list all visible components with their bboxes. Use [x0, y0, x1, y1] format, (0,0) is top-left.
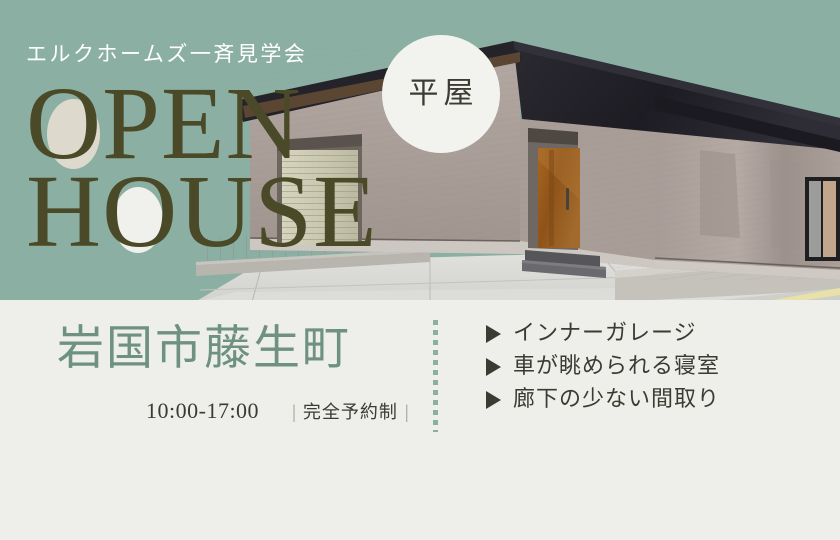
open-house-flyer: 平屋 エルクホームズ一斉見学会 OPEN HOUSE 岩国市藤生町 10:00-…: [0, 0, 840, 540]
list-item: 廊下の少ない間取り: [486, 388, 720, 412]
triangle-right-icon: [486, 391, 501, 409]
feature-label: 車が眺められる寝室: [513, 355, 720, 379]
headline-block: エルクホームズ一斉見学会 OPEN HOUSE: [0, 0, 420, 300]
location-title: 岩国市藤生町: [57, 325, 351, 372]
triangle-right-icon: [486, 358, 501, 376]
separator-right-bar: |: [398, 402, 416, 424]
event-time: 10:00-17:00: [146, 398, 259, 424]
reservation-note: 完全予約制: [303, 398, 398, 424]
headline-house: HOUSE: [26, 160, 378, 264]
event-kicker: エルクホームズ一斉見学会: [26, 38, 307, 68]
list-item: インナーガレージ: [486, 322, 720, 346]
feature-list: インナーガレージ 車が眺められる寝室 廊下の少ない間取り: [486, 322, 720, 413]
schedule-row: 10:00-17:00 | 完全予約制 |: [146, 398, 416, 424]
dotted-divider: [433, 320, 438, 432]
triangle-right-icon: [486, 325, 501, 343]
feature-label: インナーガレージ: [513, 322, 697, 346]
door-handle: [566, 188, 569, 210]
separator-left-bar: |: [285, 402, 303, 424]
feature-label: 廊下の少ない間取り: [513, 388, 720, 412]
list-item: 車が眺められる寝室: [486, 355, 720, 379]
hero-band: 平屋 エルクホームズ一斉見学会 OPEN HOUSE: [0, 0, 840, 300]
